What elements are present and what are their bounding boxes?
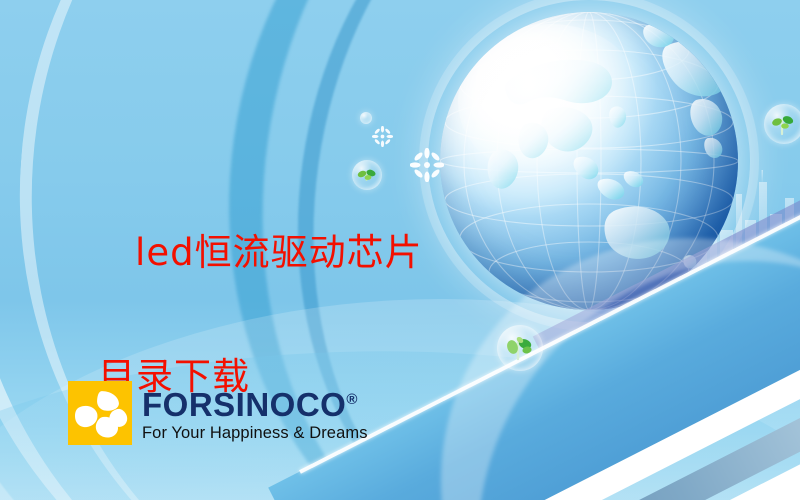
- bubble-sprout-lower: [497, 325, 543, 371]
- registered-trademark-mark: ®: [346, 391, 358, 408]
- green-sprout-icon: [764, 104, 800, 144]
- four-petal-pinwheel-icon: [68, 381, 132, 445]
- bubble-tiny: [360, 112, 372, 124]
- brand-logo-text: FORSINOCO® For Your Happiness & Dreams: [142, 381, 368, 443]
- headline-line-1: led恒流驱动芯片: [135, 231, 423, 274]
- brand-logo: FORSINOCO® For Your Happiness & Dreams: [68, 381, 368, 445]
- brand-tagline: For Your Happiness & Dreams: [142, 423, 368, 443]
- promo-banner: led恒流驱动芯片 目录下载 FORSINOCO® For Your Happi…: [0, 0, 800, 500]
- sparkle-small: [372, 126, 393, 147]
- brand-name: FORSINOCO®: [142, 383, 368, 422]
- bubble-sprout-right-edge: [764, 104, 800, 144]
- green-sprout-icon: [497, 325, 543, 371]
- brand-name-text: FORSINOCO: [142, 386, 346, 423]
- page-title: led恒流驱动芯片 目录下载: [84, 160, 423, 500]
